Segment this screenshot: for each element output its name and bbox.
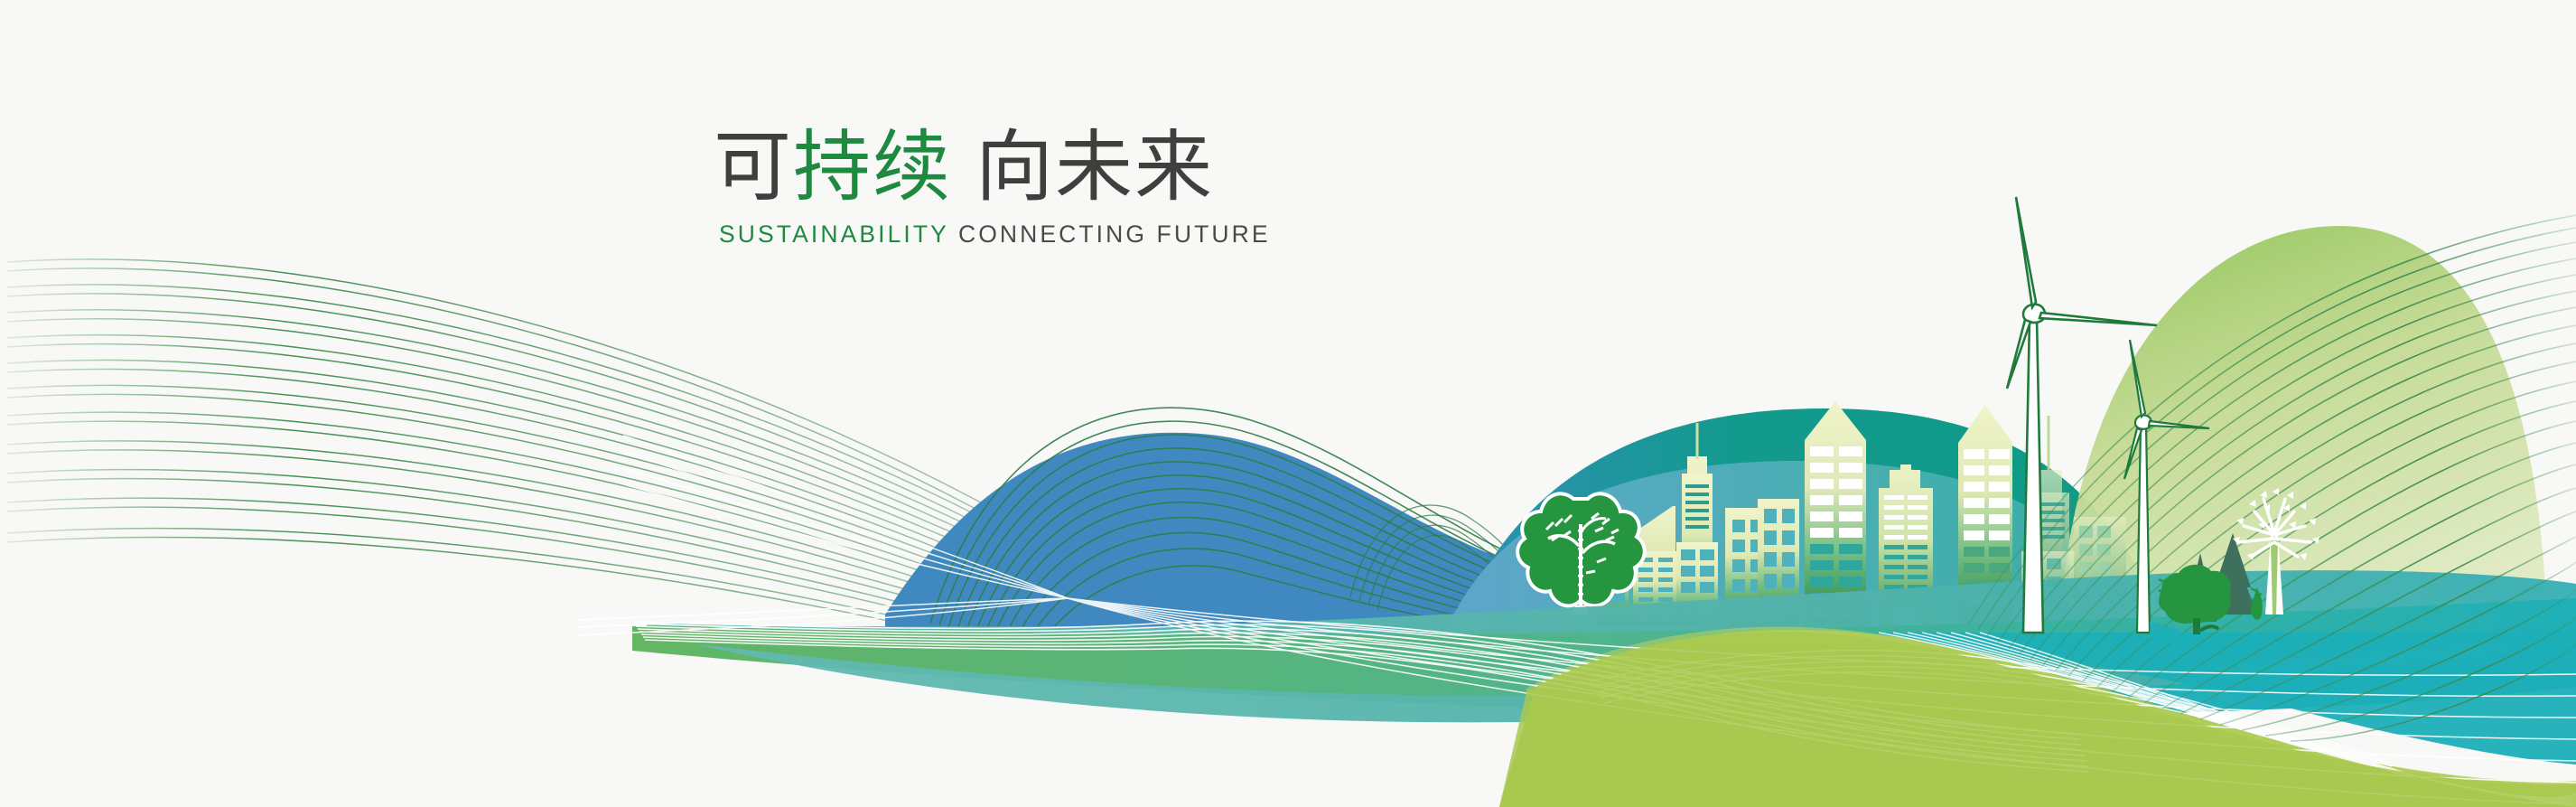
banner-illustration: [0, 0, 2576, 807]
sustainability-banner: 可持续向未来 SUSTAINABILITY CONNECTING FUTURE: [0, 0, 2576, 807]
